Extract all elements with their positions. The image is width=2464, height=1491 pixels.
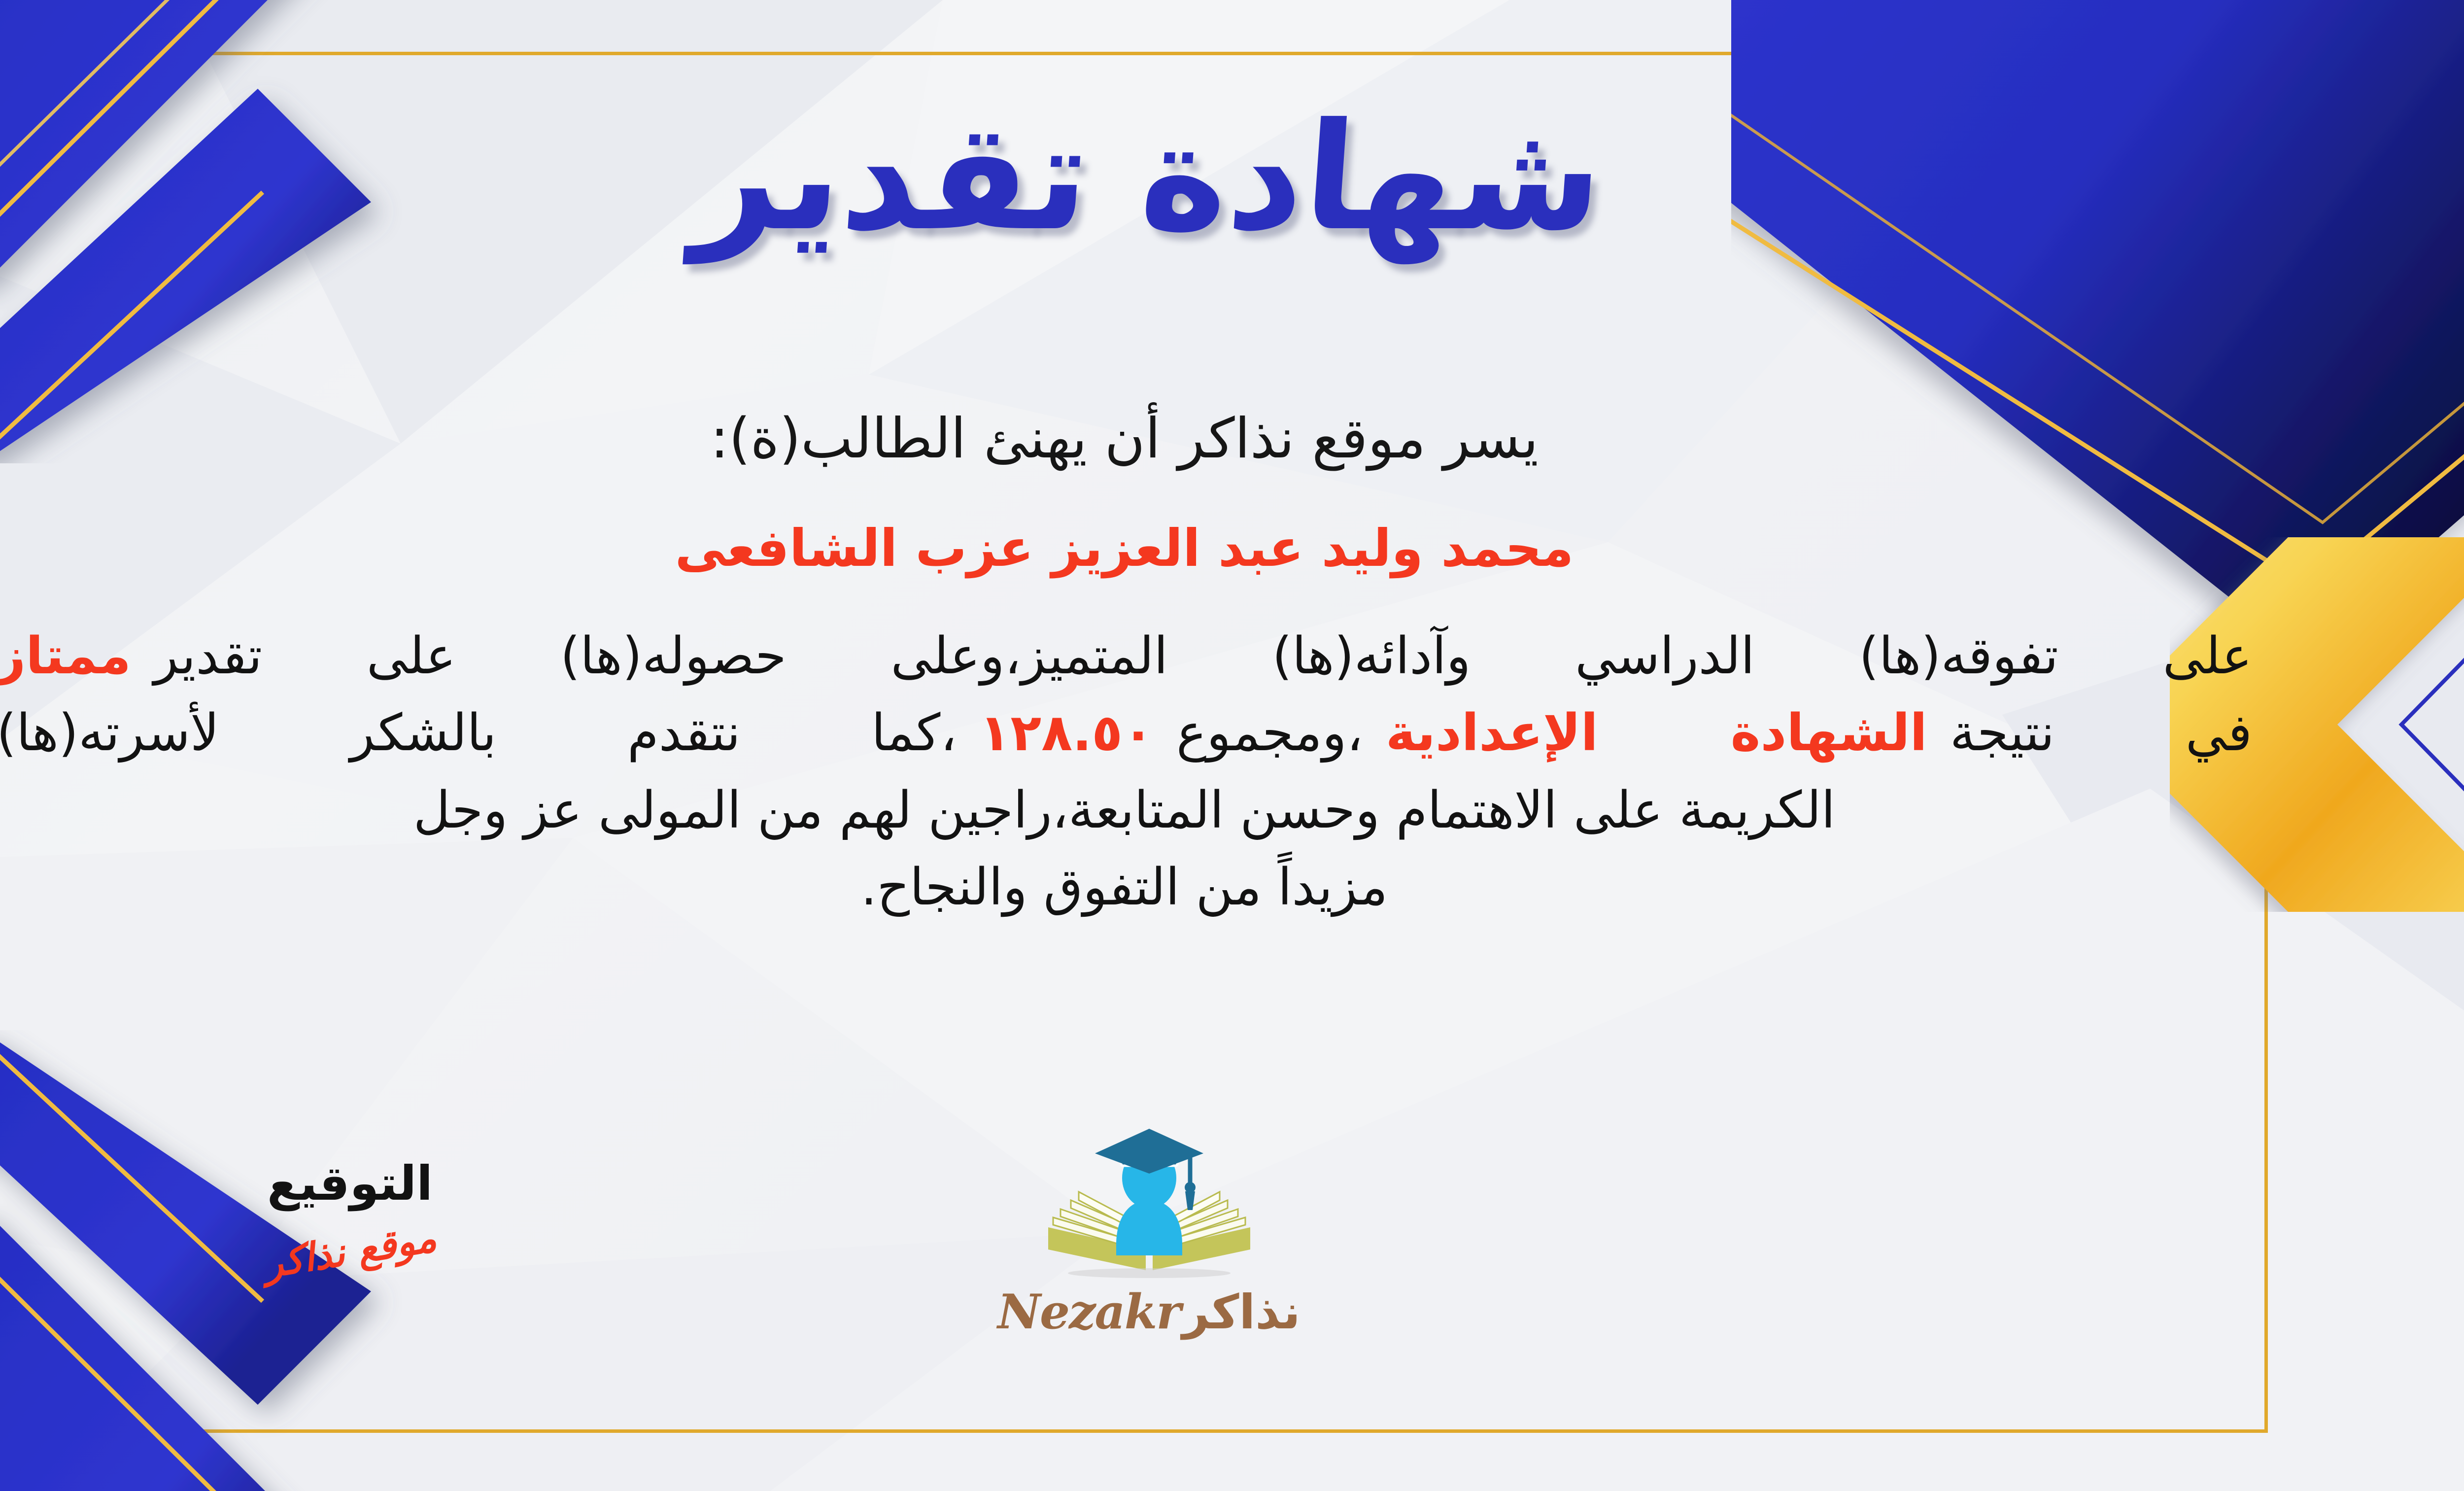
thanks-text: ،كما نتقدم بالشكر لأسرته(ها) <box>0 703 957 763</box>
achievement-text-1: على تفوقه(ها) الدراسي وآدائه(ها) المتميز… <box>154 626 2252 686</box>
page-title: شهادة تقدير <box>690 104 1608 251</box>
total-score-value: ١٢٨.٥٠ <box>979 703 1153 763</box>
paragraph-line-2: في نتيجةالشهادة الإعدادية،ومجموع١٢٨.٥٠،ك… <box>0 694 2252 772</box>
certificate-page: شهادة تقدير يسر موقع نذاكر أن يهنئ الطال… <box>0 0 2464 1491</box>
intro-line: يسر موقع نذاكر أن يهنئ الطالب(ة): <box>0 404 2252 473</box>
grade-value: ممتاز <box>0 626 131 686</box>
logo-name-latin: Nezakr <box>997 1284 1180 1340</box>
paragraph-line-1: على تفوقه(ها) الدراسي وآدائه(ها) المتميز… <box>0 618 2252 695</box>
site-logo-block: Nezakrنذاكر <box>0 1126 2464 1340</box>
paragraph-line-4: مزيداً من التفوق والنجاح. <box>0 849 2252 926</box>
certificate-title-wrap: شهادة تقدير <box>0 74 2464 281</box>
exam-name: الشهادة الإعدادية <box>1386 703 1927 763</box>
total-prefix-text: ،ومجموع <box>1176 703 1363 763</box>
student-name: محمد وليد عبد العزيز عزب الشافعى <box>0 518 2252 579</box>
paragraph-line-3: الكريمة على الاهتمام وحسن المتابعة،راجين… <box>0 772 2252 849</box>
result-prefix-text: في نتيجة <box>1950 703 2252 763</box>
graduate-on-book-icon <box>1033 1126 1265 1289</box>
certificate-body: يسر موقع نذاكر أن يهنئ الطالب(ة): محمد و… <box>0 404 2252 926</box>
logo-name-arabic: نذاكر <box>1182 1284 1300 1340</box>
logo-wordmark: Nezakrنذاكر <box>997 1284 1300 1340</box>
